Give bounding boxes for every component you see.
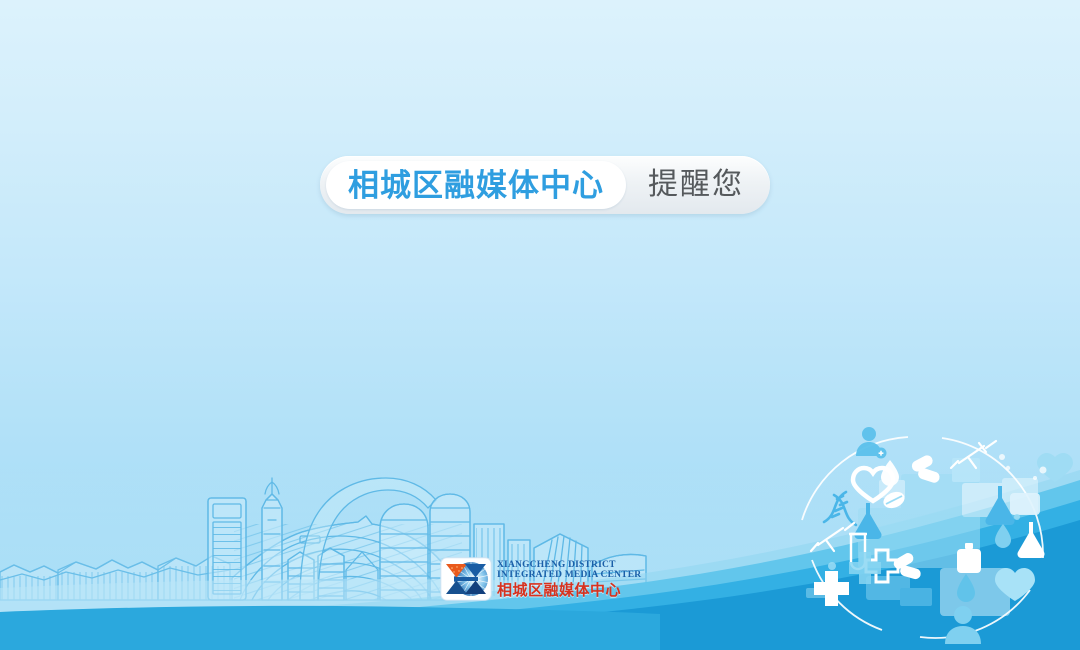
logo-english-line-2: INTEGRATED MEDIA CENTER (497, 571, 641, 581)
logo-wordmark: XIANGCHENG DISTRICT INTEGRATED MEDIA CEN… (497, 561, 641, 598)
heart-filled-icon (995, 568, 1035, 601)
medical-cross-icon (849, 552, 881, 584)
dna-helix-icon (824, 492, 856, 525)
flask-icon (985, 486, 1014, 525)
medical-cross-icon (866, 550, 898, 582)
medicine-bottle-icon (957, 543, 981, 573)
water-droplet-icon (957, 574, 975, 602)
syringe-icon (951, 441, 996, 468)
brand-pill: 相城区融媒体中心 (326, 161, 626, 209)
medical-cross-icon (814, 571, 849, 606)
logo-chinese-label: 相城区融媒体中心 (497, 583, 641, 598)
logo-english-line-1: XIANGCHENG DISTRICT (497, 561, 641, 571)
media-center-logo: XIANGCHENG DISTRICT INTEGRATED MEDIA CEN… (440, 556, 641, 602)
bandage-icon (1010, 493, 1040, 515)
healthcare-icon-cluster (802, 427, 1073, 644)
water-droplet-icon (995, 524, 1011, 548)
flask-icon (1017, 522, 1044, 558)
decorative-dots (999, 454, 1047, 480)
doctor-icon (856, 427, 887, 459)
notice-suffix-label: 提醒您 (648, 170, 744, 200)
decorative-dots (828, 514, 1020, 570)
heart-outline-icon (853, 468, 893, 501)
heart-filled-icon (1037, 453, 1073, 482)
capsule-pill-icon (910, 453, 941, 484)
tablet-pill-icon (881, 489, 907, 511)
flask-icon (854, 503, 881, 539)
notice-banner-page: 相城区融媒体中心 提醒您 (0, 0, 1080, 650)
brand-label: 相城区融媒体中心 (348, 170, 604, 201)
beaker-icon (849, 534, 867, 569)
ring-arc-group (802, 437, 1043, 638)
background-artwork (0, 0, 1080, 650)
xiangcheng-x-hourglass-mark (440, 557, 492, 601)
notice-banner: 相城区融媒体中心 提醒您 (320, 156, 770, 214)
water-droplet-icon (881, 460, 899, 486)
person-icon (945, 606, 981, 644)
syringe-icon (811, 523, 854, 551)
capsule-pill-icon (892, 551, 922, 580)
bottom-band (0, 606, 660, 650)
